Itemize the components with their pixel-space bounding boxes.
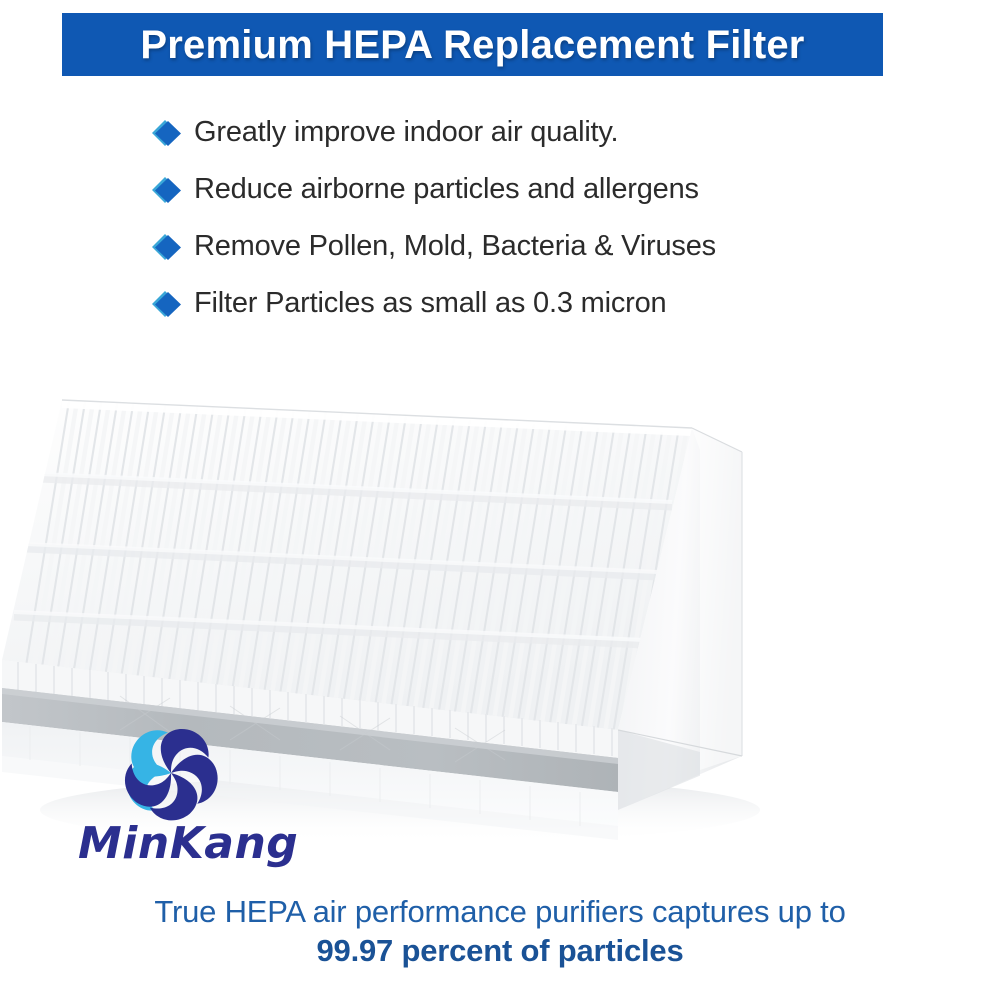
feature-label: Remove Pollen, Mold, Bacteria & Viruses: [194, 231, 716, 263]
feature-item: Greatly improve indoor air quality.: [152, 104, 912, 161]
tagline-line-1: True HEPA air performance purifiers capt…: [0, 893, 1000, 932]
feature-item: Reduce airborne particles and allergens: [152, 161, 912, 218]
blue-diamond-icon: [152, 232, 182, 262]
feature-label: Filter Particles as small as 0.3 micron: [194, 288, 666, 320]
brand-wordmark: MinKang: [78, 822, 328, 866]
header-banner: Premium HEPA Replacement Filter: [62, 13, 883, 76]
feature-list: Greatly improve indoor air quality. Redu…: [152, 104, 912, 332]
pinwheel-swirl-logo-icon: [116, 718, 226, 828]
product-marketing-image: Premium HEPA Replacement Filter Greatly …: [0, 0, 1000, 1000]
feature-label: Greatly improve indoor air quality.: [194, 117, 618, 149]
blue-diamond-icon: [152, 289, 182, 319]
page-title: Premium HEPA Replacement Filter: [140, 25, 804, 65]
tagline-line-2: 99.97 percent of particles: [0, 932, 1000, 971]
footer-tagline: True HEPA air performance purifiers capt…: [0, 893, 1000, 971]
feature-item: Remove Pollen, Mold, Bacteria & Viruses: [152, 218, 912, 275]
blue-diamond-icon: [152, 118, 182, 148]
feature-label: Reduce airborne particles and allergens: [194, 174, 699, 206]
brand-logo: MinKang: [78, 718, 328, 878]
feature-item: Filter Particles as small as 0.3 micron: [152, 275, 912, 332]
blue-diamond-icon: [152, 175, 182, 205]
